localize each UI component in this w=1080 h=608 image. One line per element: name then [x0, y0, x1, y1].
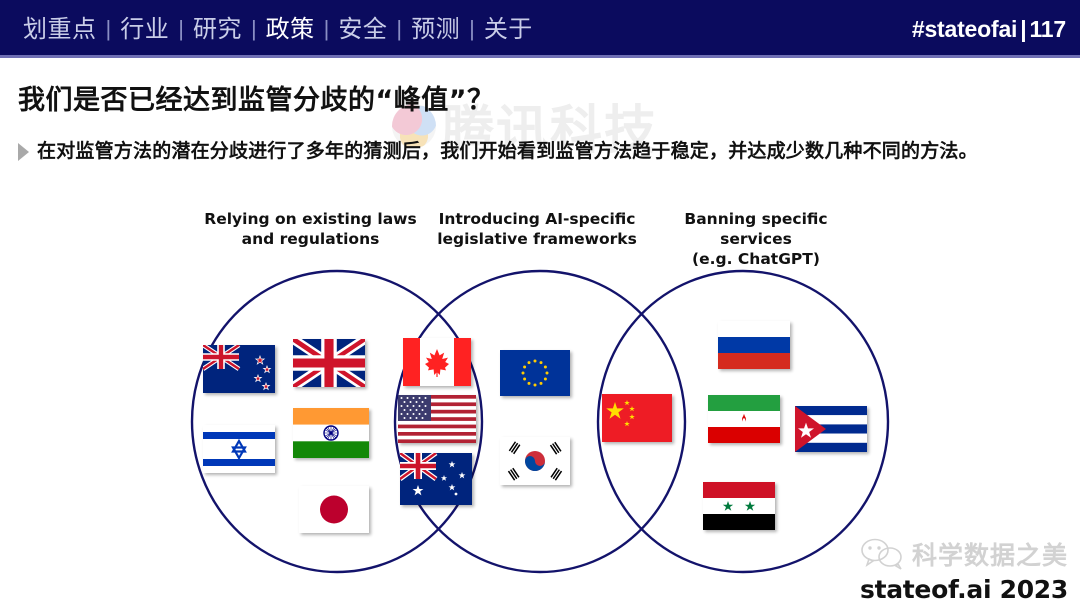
flag-canada	[403, 338, 471, 386]
footer-brand: stateof.ai 2023	[860, 575, 1068, 604]
wechat-watermark: 科学数据之美	[860, 536, 1068, 572]
flag-australia	[400, 453, 472, 505]
venn-label-line-1: Banning specific services	[648, 210, 864, 250]
flag-south-korea	[500, 437, 570, 485]
flag-china	[602, 394, 672, 442]
flag-united-states	[398, 395, 476, 443]
flag-united-kingdom	[293, 339, 365, 387]
venn-label-introducing-ai-specific-frameworks: Introducing AI-specific legislative fram…	[432, 210, 642, 250]
wechat-watermark-text: 科学数据之美	[912, 536, 1068, 572]
triangle-right-icon	[18, 143, 29, 161]
flag-japan	[299, 486, 369, 533]
venn-label-line-2: and regulations	[188, 230, 433, 250]
flag-india	[293, 408, 369, 458]
subtitle-block: 在对监管方法的潜在分歧进行了多年的猜测后，我们开始看到监管方法趋于稳定，并达成少…	[18, 138, 1048, 166]
flag-russia	[718, 321, 790, 369]
flag-european-union	[500, 350, 570, 396]
flag-new-zealand	[203, 345, 275, 393]
venn-label-line-2: (e.g. ChatGPT)	[648, 250, 864, 270]
flag-israel	[203, 425, 275, 473]
page-title: 我们是否已经达到监管分歧的“峰值”？	[18, 78, 1018, 117]
subtitle-text: 在对监管方法的潜在分歧进行了多年的猜测后，我们开始看到监管方法趋于稳定，并达成少…	[37, 138, 978, 166]
venn-label-line-2: legislative frameworks	[432, 230, 642, 250]
flag-syria	[703, 482, 775, 530]
wechat-icon	[860, 538, 904, 570]
venn-label-line-1: Introducing AI-specific	[432, 210, 642, 230]
flag-cuba	[795, 406, 867, 452]
venn-label-relying-on-existing-laws: Relying on existing laws and regulations	[188, 210, 433, 250]
venn-label-line-1: Relying on existing laws	[188, 210, 433, 230]
venn-label-banning-specific-services: Banning specific services (e.g. ChatGPT)	[648, 210, 864, 269]
flag-iran	[708, 395, 780, 443]
